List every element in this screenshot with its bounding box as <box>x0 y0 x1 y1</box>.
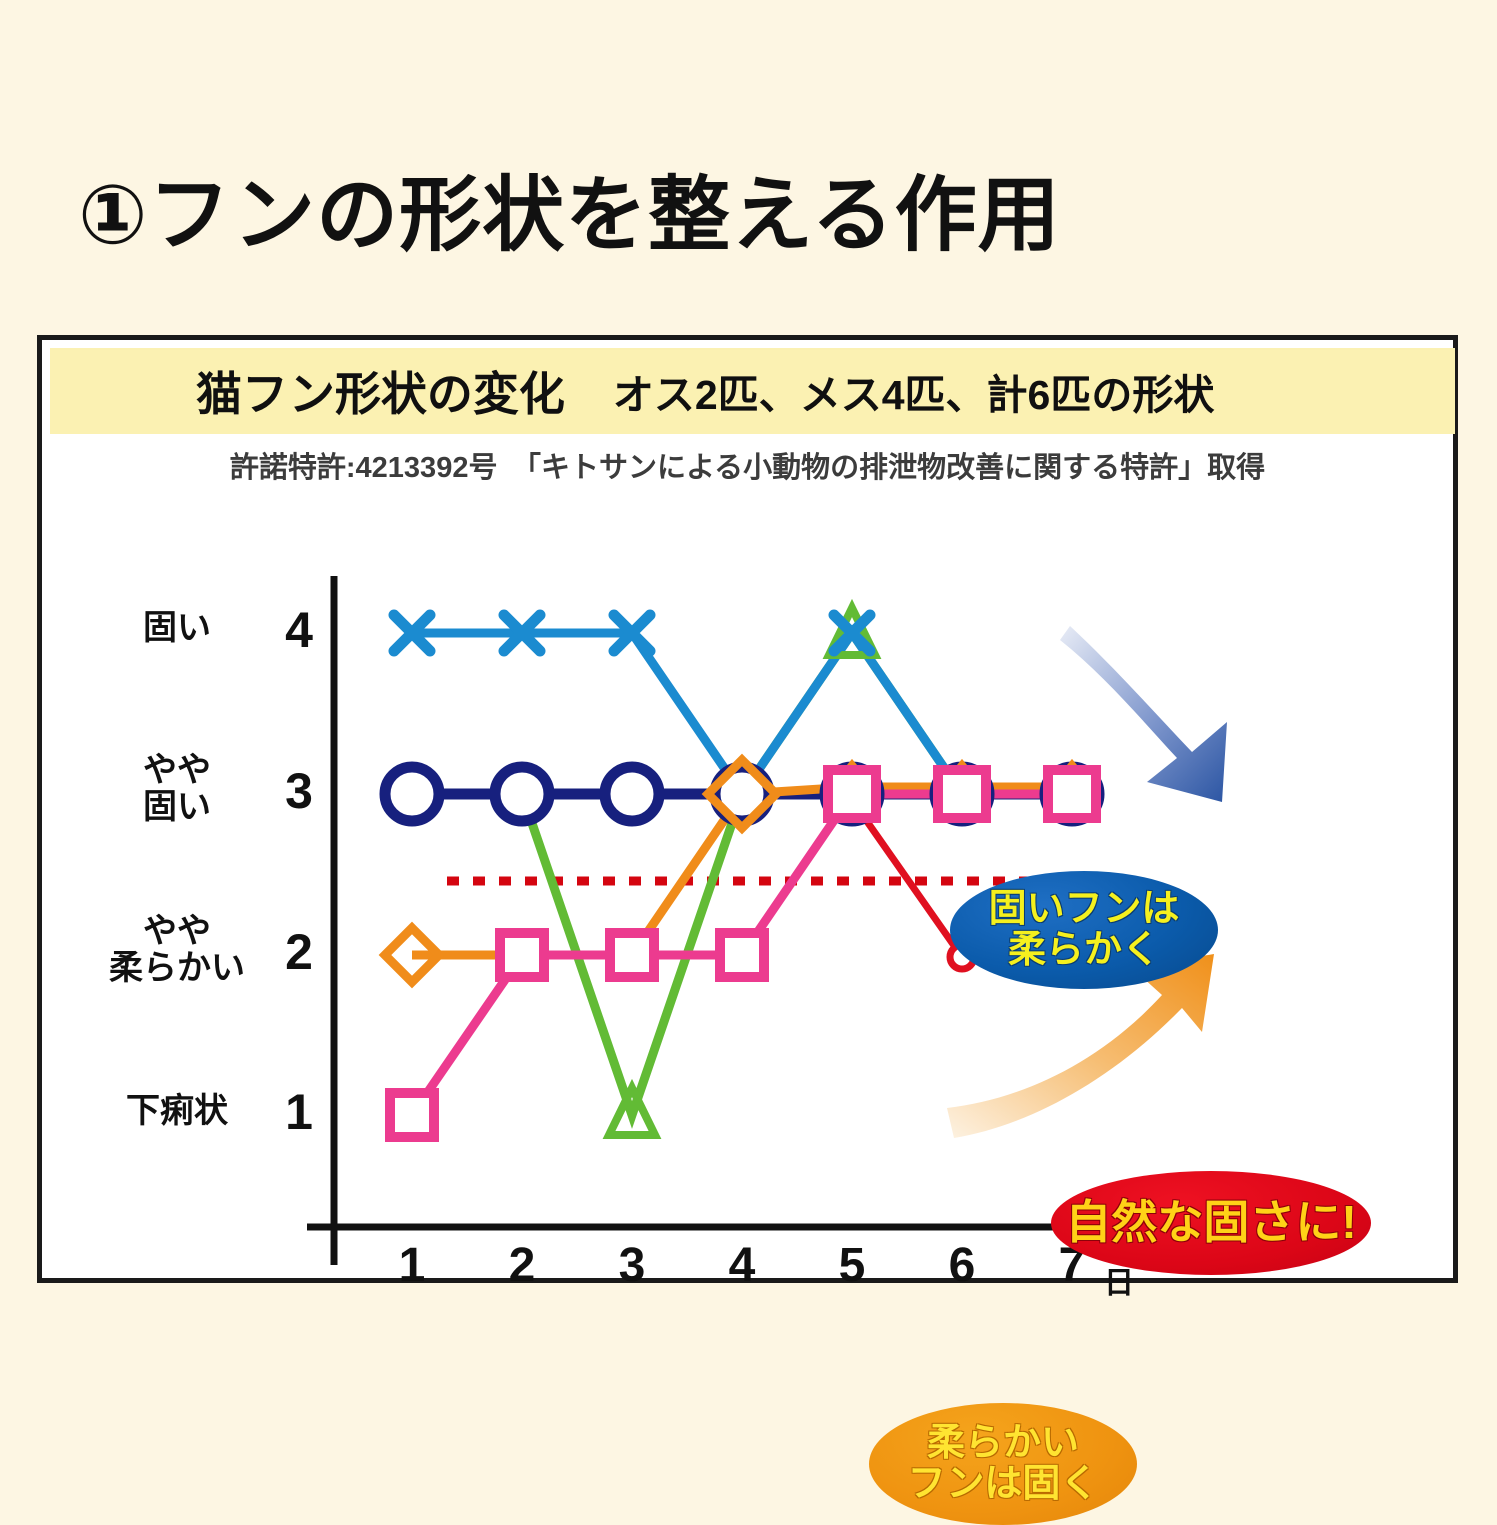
page-title: ①フンの形状を整える作用 <box>78 148 1061 267</box>
y-tick-3: 3 <box>274 762 324 820</box>
y-tick-4: 4 <box>274 601 324 659</box>
y-label-hard: 固い <box>82 610 272 647</box>
callout-natural-firmness-line1: 自然な固さに! <box>1065 1198 1356 1248</box>
x-tick-4: 4 <box>717 1238 767 1293</box>
callout-soft-to-hard-line2: フンは固く <box>908 1464 1099 1505</box>
x-tick-1: 1 <box>387 1238 437 1293</box>
y-label-somewhat-soft: やや柔らかい <box>82 913 272 986</box>
chart-card: 猫フン形状の変化 オス2匹、メス4匹、計6匹の形状 許諾特許:4213392号 … <box>37 335 1458 1283</box>
callout-natural-firmness: 自然な固さに! <box>1051 1171 1371 1275</box>
callout-soft-to-hard-line1: 柔らかい <box>927 1423 1079 1464</box>
x-tick-6: 6 <box>937 1238 987 1293</box>
callout-hard-to-soft-line2: 柔らかく <box>1008 930 1160 971</box>
x-tick-2: 2 <box>497 1238 547 1293</box>
x-tick-5: 5 <box>827 1238 877 1293</box>
y-label-somewhat-hard: やや固い <box>82 752 272 825</box>
x-tick-3: 3 <box>607 1238 657 1293</box>
markers-cat-navy <box>385 767 1099 821</box>
y-label-diarrhea: 下痢状 <box>82 1093 272 1130</box>
callout-hard-to-soft: 固いフンは 柔らかく <box>950 871 1218 989</box>
y-tick-2: 2 <box>274 923 324 981</box>
callout-hard-to-soft-line1: 固いフンは <box>989 889 1180 930</box>
series-cat-green <box>412 633 1072 1115</box>
y-tick-1: 1 <box>274 1083 324 1141</box>
callout-soft-to-hard: 柔らかい フンは固く <box>869 1403 1137 1525</box>
